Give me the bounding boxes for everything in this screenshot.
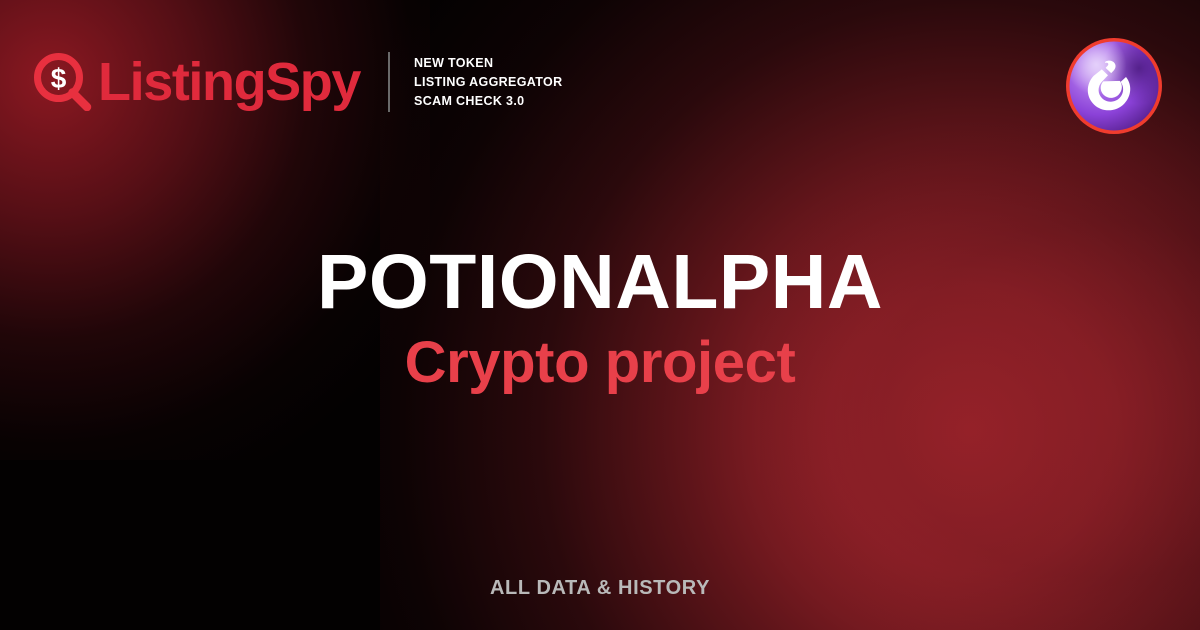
brand-tagline: NEW TOKEN LISTING AGGREGATOR SCAM CHECK … bbox=[414, 54, 562, 111]
page-title: POTIONALPHA bbox=[0, 243, 1200, 322]
potion-token-icon[interactable] bbox=[1064, 36, 1164, 136]
tagline-line-1: NEW TOKEN bbox=[414, 54, 562, 73]
header: $ ListingSpy NEW TOKEN LISTING AGGREGATO… bbox=[34, 52, 562, 112]
hero-block: POTIONALPHA Crypto project bbox=[0, 243, 1200, 393]
tagline-line-3: SCAM CHECK 3.0 bbox=[414, 92, 562, 111]
svg-text:$: $ bbox=[51, 63, 67, 94]
header-divider bbox=[388, 52, 390, 112]
tagline-line-2: LISTING AGGREGATOR bbox=[414, 73, 562, 92]
brand-lockup[interactable]: $ ListingSpy bbox=[34, 53, 360, 111]
page-subtitle: Crypto project bbox=[0, 333, 1200, 394]
brand-wordmark: ListingSpy bbox=[98, 55, 360, 109]
footer: ALL DATA & HISTORY bbox=[0, 577, 1200, 600]
share-card: $ ListingSpy NEW TOKEN LISTING AGGREGATO… bbox=[0, 0, 1200, 630]
magnifier-dollar-icon: $ bbox=[34, 53, 92, 111]
footer-caption: ALL DATA & HISTORY bbox=[0, 577, 1200, 600]
